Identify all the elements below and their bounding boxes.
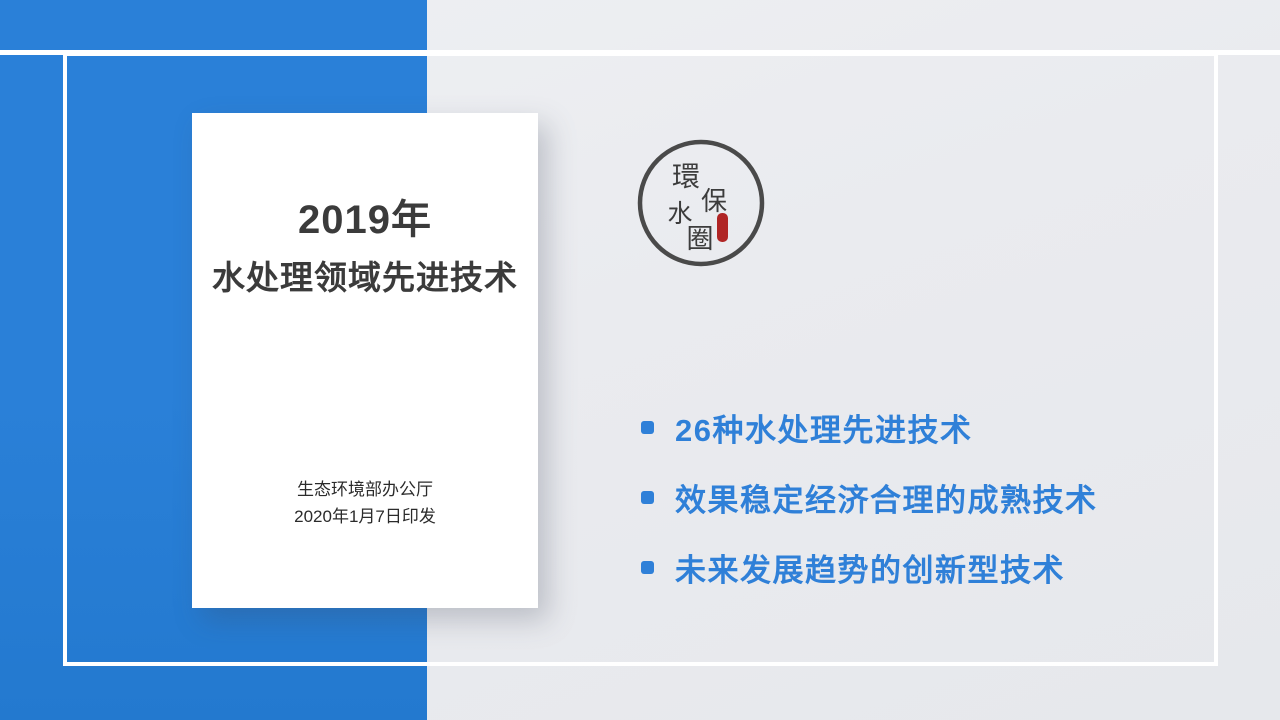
list-item: 未来发展趋势的创新型技术 [641, 532, 1201, 602]
page-title: 水处理领域先进技术 [192, 257, 538, 300]
bullet-label: 26种水处理先进技术 [675, 405, 972, 450]
title-block: 2019年 水处理领域先进技术 [192, 195, 538, 300]
bullet-label: 效果稳定经济合理的成熟技术 [675, 475, 1098, 520]
card-meta: 生态环境部办公厅 2020年1月7日印发 [192, 476, 538, 530]
list-item: 效果稳定经济合理的成熟技术 [641, 462, 1201, 532]
seal-char-2: 保 [701, 187, 727, 217]
list-item: 26种水处理先进技术 [641, 392, 1201, 462]
title-year: 2019年 [192, 195, 538, 245]
bullet-dot-icon [641, 421, 654, 434]
seal-char-4: 圈 [687, 224, 714, 255]
bullet-label: 未来发展趋势的创新型技术 [675, 545, 1065, 590]
slide-canvas: 2019年 水处理领域先进技术 生态环境部办公厅 2020年1月7日印发 環 保… [0, 0, 1280, 720]
title-card: 2019年 水处理领域先进技术 生态环境部办公厅 2020年1月7日印发 [192, 113, 538, 608]
bullet-dot-icon [641, 561, 654, 574]
issuer-text: 生态环境部办公厅 [192, 476, 538, 503]
seal-char-1: 環 [672, 160, 700, 193]
issue-date-text: 2020年1月7日印发 [192, 503, 538, 530]
red-stamp-icon [717, 213, 728, 242]
brand-seal-logo: 環 保 水 圈 [636, 138, 766, 268]
bullet-dot-icon [641, 491, 654, 504]
bullet-list: 26种水处理先进技术 效果稳定经济合理的成熟技术 未来发展趋势的创新型技术 [641, 392, 1201, 602]
